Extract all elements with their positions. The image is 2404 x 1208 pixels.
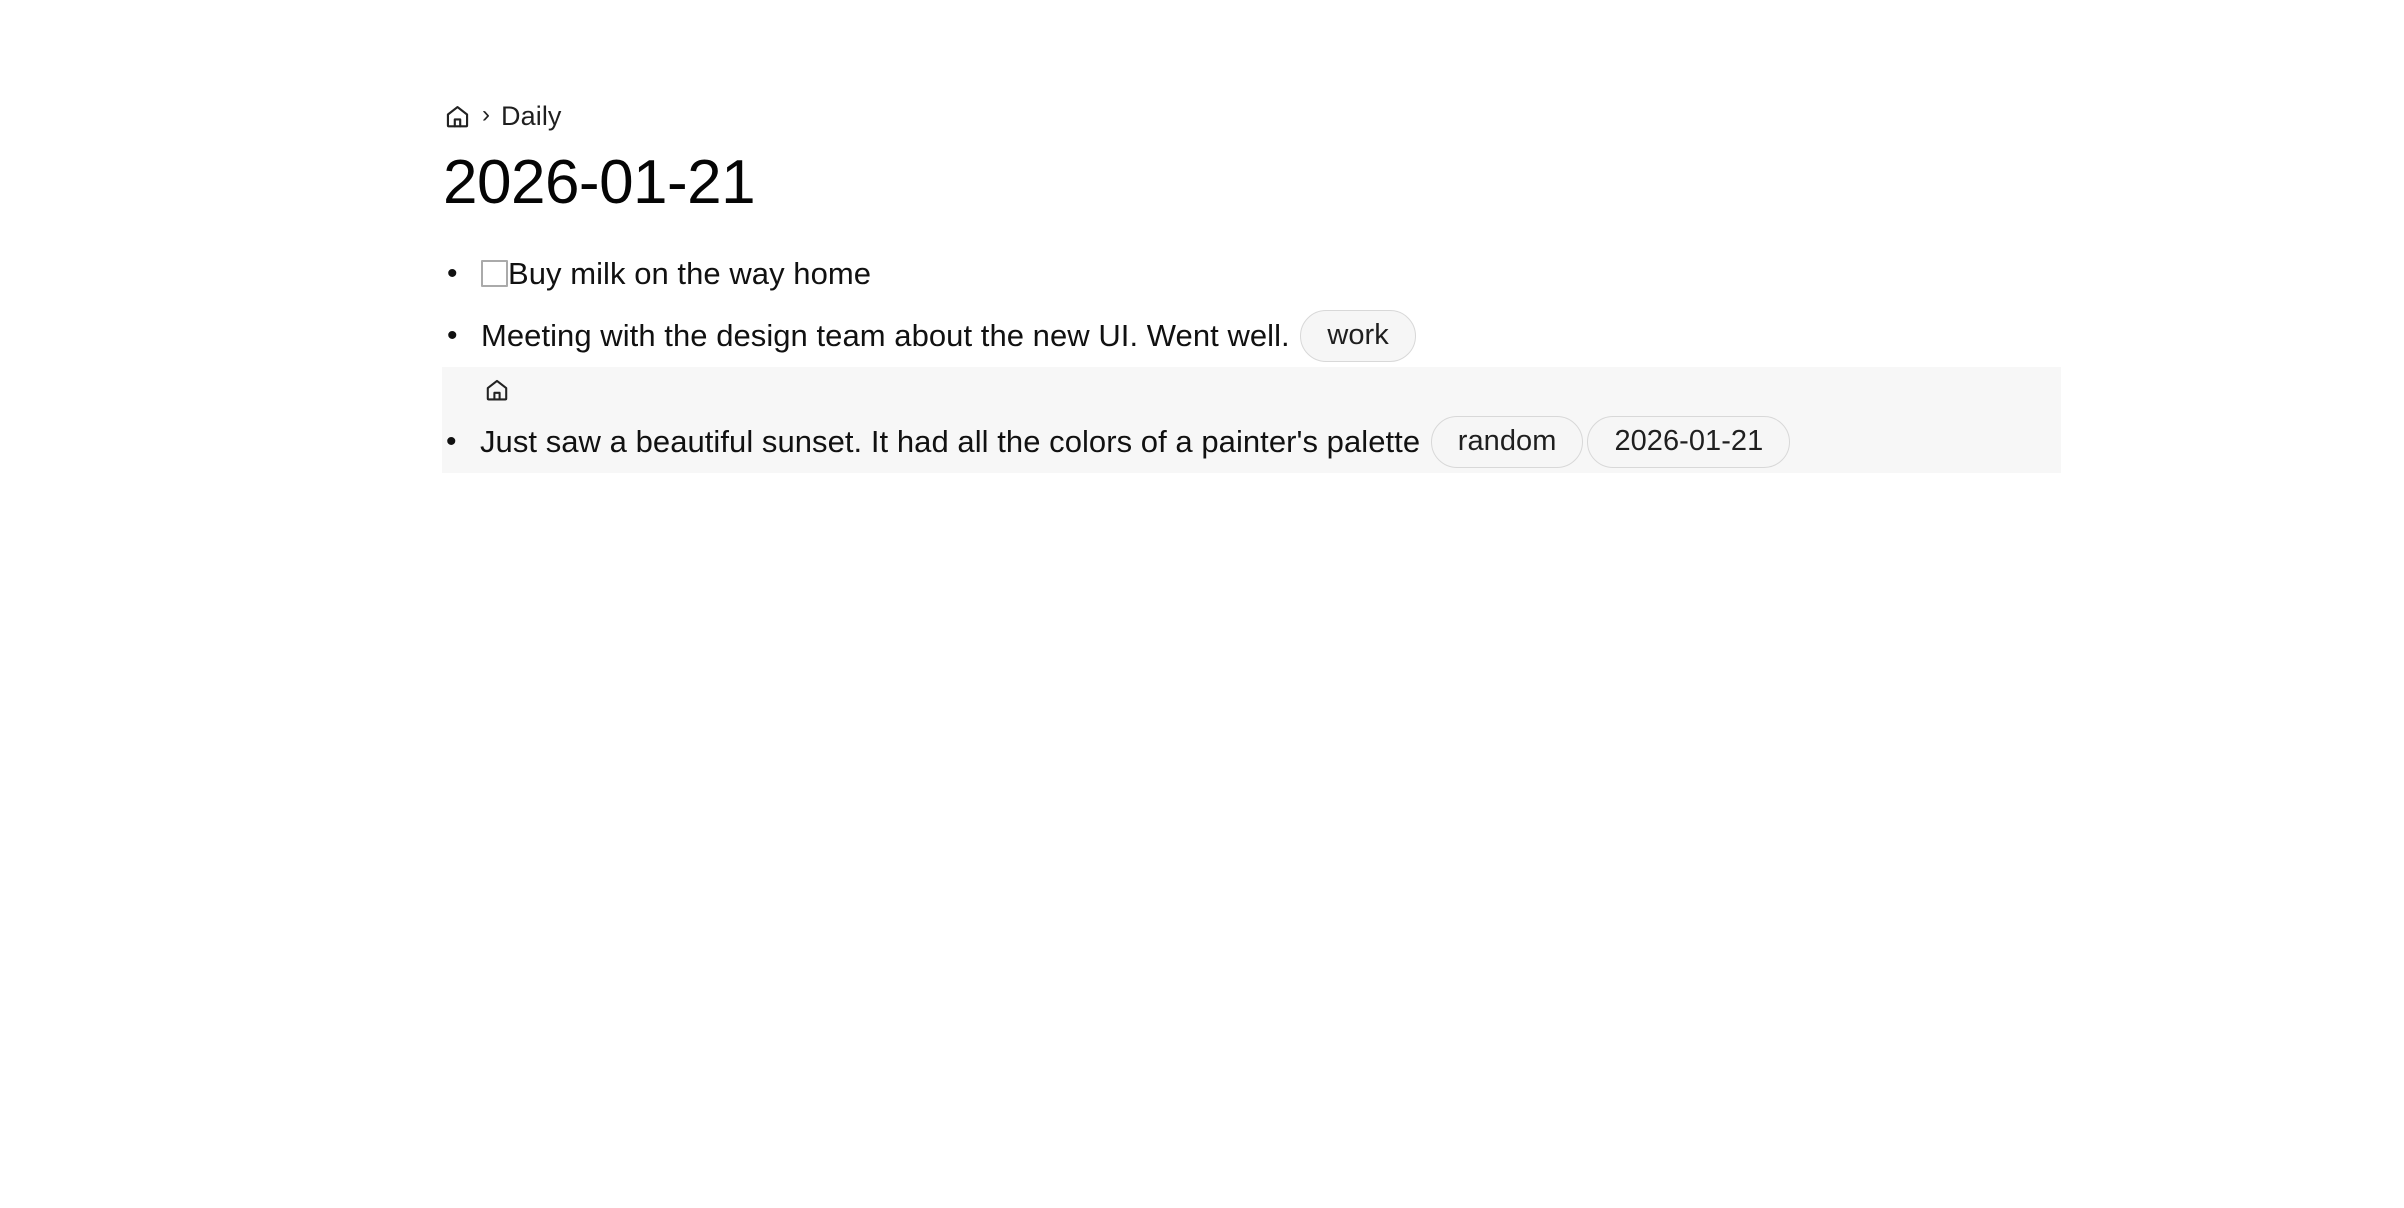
home-icon[interactable] (484, 377, 510, 403)
tag-date[interactable]: 2026-01-21 (1587, 416, 1790, 468)
block-content: Just saw a beautiful sunset. It had all … (480, 411, 2043, 473)
home-icon[interactable] (444, 103, 471, 130)
bullet-marker (442, 411, 480, 473)
tag-random[interactable]: random (1431, 416, 1584, 468)
page-title: 2026-01-21 (443, 148, 755, 217)
block-list: Buy milk on the way home Meeting with th… (443, 243, 2043, 473)
block-todo[interactable]: Buy milk on the way home (443, 243, 2043, 305)
breadcrumb: › Daily (444, 99, 562, 133)
block-sunset[interactable]: Just saw a beautiful sunset. It had all … (442, 367, 2043, 473)
block-content: Meeting with the design team about the n… (481, 305, 2043, 367)
block-home-icon-wrapper (442, 367, 2043, 411)
page-root: › Daily 2026-01-21 Buy milk on the way h… (0, 0, 2404, 1208)
block-text: Just saw a beautiful sunset. It had all … (480, 424, 1420, 459)
chevron-right-icon: › (482, 103, 490, 127)
breadcrumb-item-daily[interactable]: Daily (501, 103, 562, 130)
todo-checkbox[interactable] (481, 260, 508, 287)
bullet-marker (443, 305, 481, 367)
block-text: Buy milk on the way home (508, 256, 871, 291)
bullet-marker (443, 243, 481, 305)
block-content: Buy milk on the way home (481, 243, 2043, 305)
block-text: Meeting with the design team about the n… (481, 318, 1290, 353)
tag-work[interactable]: work (1300, 310, 1415, 362)
block-meeting[interactable]: Meeting with the design team about the n… (443, 305, 2043, 367)
